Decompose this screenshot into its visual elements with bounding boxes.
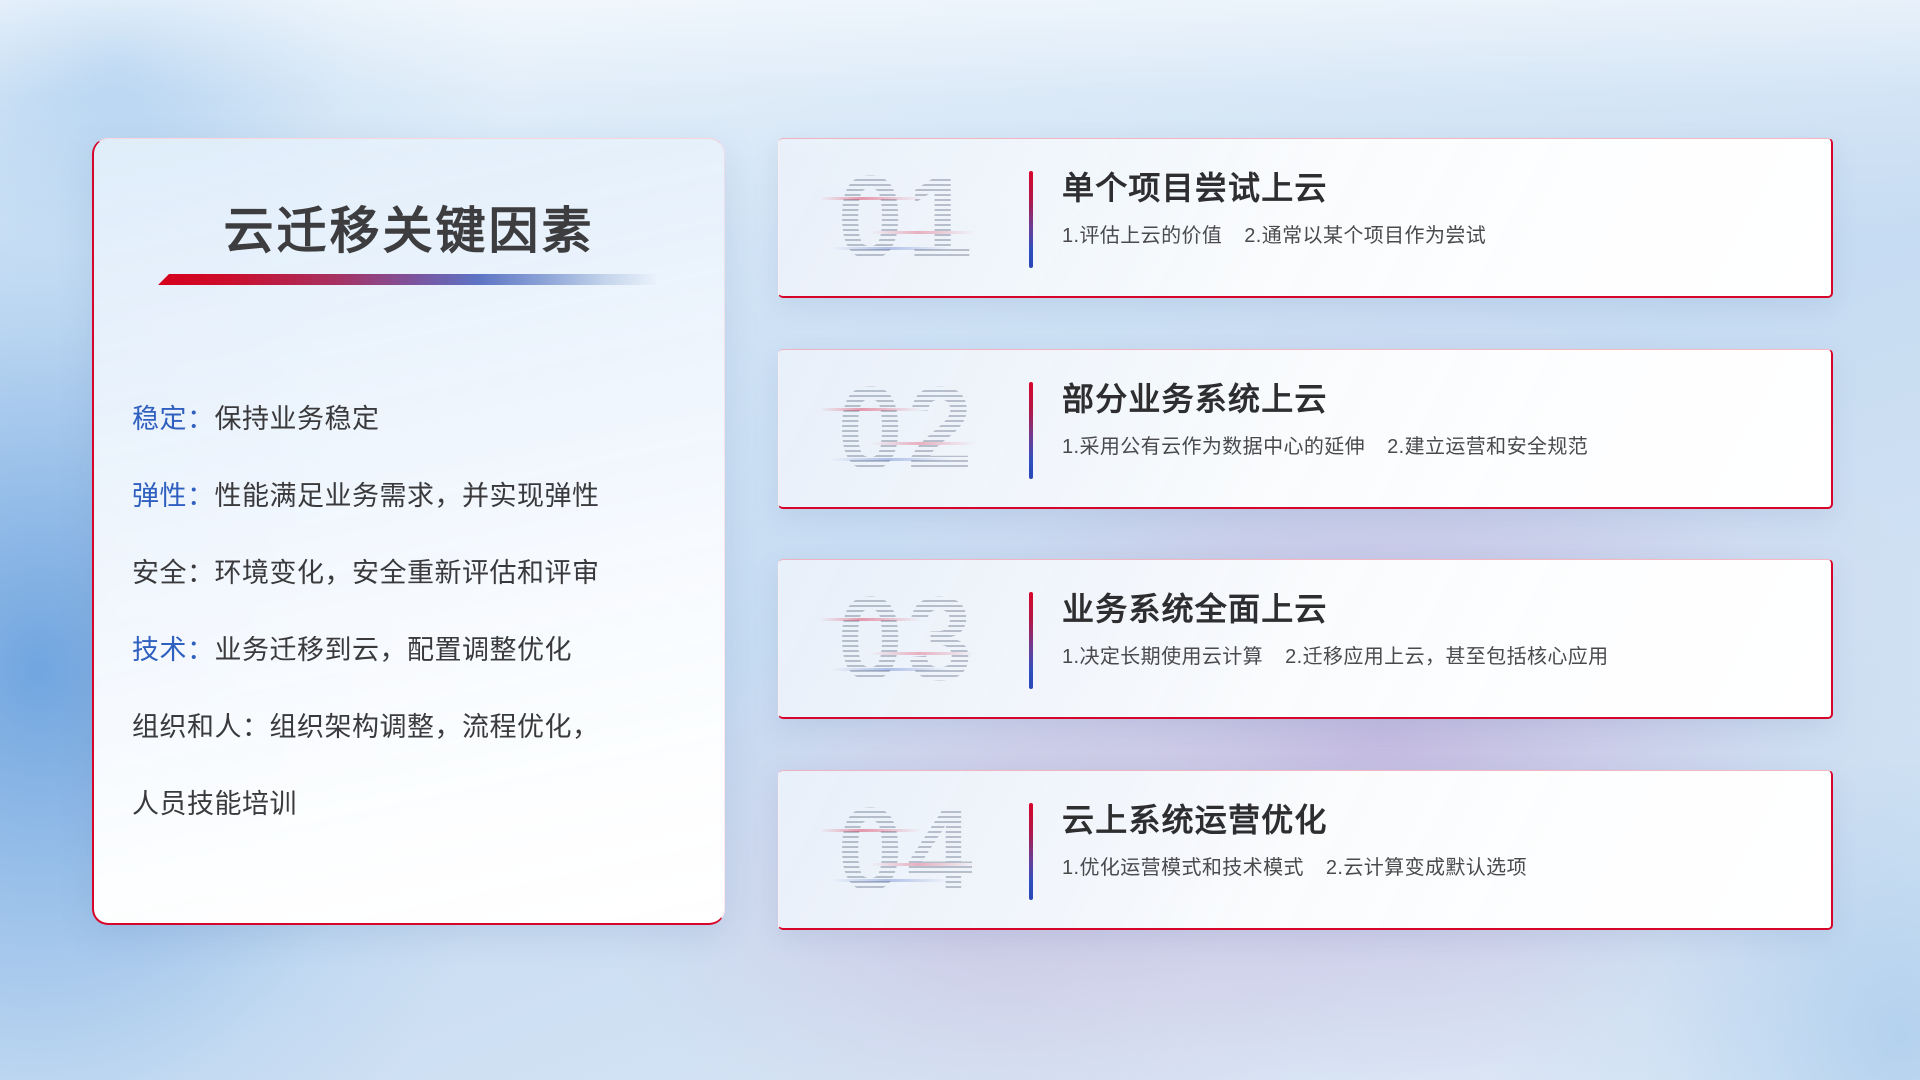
step-point-1: 1.采用公有云作为数据中心的延伸 (1062, 436, 1365, 458)
step-subtext: 1.决定长期使用云计算2.迁移应用上云，甚至包括核心应用 (1062, 643, 1807, 671)
step-content: 单个项目尝试上云 1.评估上云的价值2.通常以某个项目作为尝试 (1062, 165, 1807, 250)
step-title: 业务系统全面上云 (1062, 586, 1807, 632)
list-item-continuation: 人员技能培训 (132, 766, 694, 843)
step-content: 部分业务系统上云 1.采用公有云作为数据中心的延伸2.建立运营和安全规范 (1062, 376, 1807, 461)
step-card-04[interactable]: 04 云上系统运营优化 1.优化运营模式和技术模式2.云计算变成默认选项 (778, 770, 1833, 930)
step-point-2: 2.云计算变成默认选项 (1326, 857, 1527, 879)
step-number-watermark: 04 (812, 786, 1002, 914)
title-underline-bar (158, 274, 658, 285)
key-factors-panel: 云迁移关键因素 稳定：保持业务稳定 弹性：性能满足业务需求，并实现弹性 安全：环… (92, 138, 725, 925)
step-divider-bar (1029, 171, 1033, 268)
step-point-2: 2.通常以某个项目作为尝试 (1244, 225, 1486, 247)
step-subtext: 1.优化运营模式和技术模式2.云计算变成默认选项 (1062, 854, 1807, 882)
step-title: 部分业务系统上云 (1062, 376, 1807, 422)
page-title: 云迁移关键因素 (94, 191, 724, 263)
step-point-1: 1.优化运营模式和技术模式 (1062, 857, 1304, 879)
step-title: 云上系统运营优化 (1062, 797, 1807, 843)
list-item-text: 性能满足业务需求，并实现弹性 (215, 481, 600, 511)
list-item: 稳定：保持业务稳定 (132, 381, 694, 458)
step-subtext: 1.采用公有云作为数据中心的延伸2.建立运营和安全规范 (1062, 433, 1807, 461)
step-number-watermark: 01 (812, 154, 1002, 282)
list-item-label: 稳定： (132, 404, 215, 434)
step-number-watermark: 03 (812, 575, 1002, 703)
step-number-watermark: 02 (812, 365, 1002, 493)
list-item: 技术：业务迁移到云，配置调整优化 (132, 612, 694, 689)
step-card-03[interactable]: 03 业务系统全面上云 1.决定长期使用云计算2.迁移应用上云，甚至包括核心应用 (778, 559, 1833, 719)
list-item: 安全：环境变化，安全重新评估和评审 (132, 535, 694, 612)
list-item-text: 组织架构调整，流程优化， (270, 712, 600, 742)
list-item-label: 弹性： (132, 481, 215, 511)
step-content: 云上系统运营优化 1.优化运营模式和技术模式2.云计算变成默认选项 (1062, 797, 1807, 882)
step-card-01[interactable]: 01 单个项目尝试上云 1.评估上云的价值2.通常以某个项目作为尝试 (778, 138, 1833, 298)
step-divider-bar (1029, 803, 1033, 900)
key-factors-list: 稳定：保持业务稳定 弹性：性能满足业务需求，并实现弹性 安全：环境变化，安全重新… (132, 381, 694, 843)
list-item-text: 业务迁移到云，配置调整优化 (215, 635, 573, 665)
step-divider-bar (1029, 592, 1033, 689)
list-item-text: 环境变化，安全重新评估和评审 (215, 558, 600, 588)
step-point-2: 2.建立运营和安全规范 (1387, 436, 1588, 458)
list-item: 弹性：性能满足业务需求，并实现弹性 (132, 458, 694, 535)
step-content: 业务系统全面上云 1.决定长期使用云计算2.迁移应用上云，甚至包括核心应用 (1062, 586, 1807, 671)
step-point-1: 1.决定长期使用云计算 (1062, 646, 1263, 668)
list-item: 组织和人：组织架构调整，流程优化， (132, 689, 694, 766)
step-divider-bar (1029, 382, 1033, 479)
list-item-label: 组织和人： (132, 712, 270, 742)
list-item-text: 人员技能培训 (132, 789, 297, 819)
list-item-label: 安全： (132, 558, 215, 588)
step-title: 单个项目尝试上云 (1062, 165, 1807, 211)
slide-canvas: 云迁移关键因素 稳定：保持业务稳定 弹性：性能满足业务需求，并实现弹性 安全：环… (0, 0, 1920, 1080)
step-point-1: 1.评估上云的价值 (1062, 225, 1222, 247)
step-card-02[interactable]: 02 部分业务系统上云 1.采用公有云作为数据中心的延伸2.建立运营和安全规范 (778, 349, 1833, 509)
step-point-2: 2.迁移应用上云，甚至包括核心应用 (1285, 646, 1608, 668)
step-subtext: 1.评估上云的价值2.通常以某个项目作为尝试 (1062, 222, 1807, 250)
list-item-text: 保持业务稳定 (215, 404, 380, 434)
list-item-label: 技术： (132, 635, 215, 665)
